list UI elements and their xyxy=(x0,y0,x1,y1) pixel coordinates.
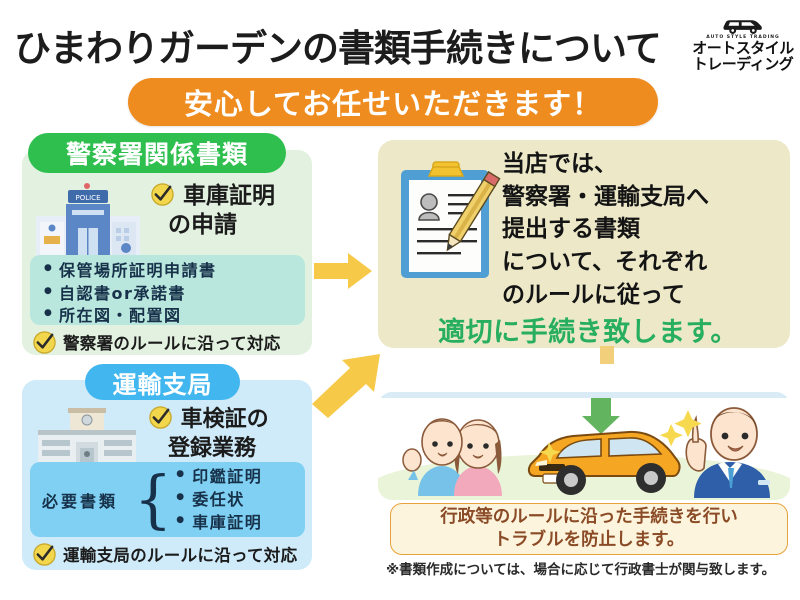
transport-card-badge: 運輸支局 xyxy=(85,364,240,400)
message-line-3: 提出する書類 xyxy=(502,213,792,246)
salesman-pointing-icon xyxy=(672,396,784,498)
message-line-5: のルールに従って xyxy=(502,279,792,312)
list-item: 車庫証明 xyxy=(176,511,262,534)
list-item: 保管場所証明申請書 xyxy=(44,260,305,283)
check-circle-icon xyxy=(150,182,175,207)
police-footer-text: 警察署のルールに沿って対応 xyxy=(63,330,281,354)
check-circle-icon xyxy=(32,542,57,567)
assurance-banner-text: 安心してお任せいただきます！ xyxy=(184,81,602,123)
infographic-root: ひまわりガーデンの書類手続きについて AUTO STYLE TRADING オー… xyxy=(0,0,800,600)
police-station-icon: POLICE xyxy=(32,178,144,260)
transport-card-badge-label: 運輸支局 xyxy=(113,365,213,400)
police-heading-line-1: 車庫証明 xyxy=(183,183,275,209)
logo-line-1: オートスタイル xyxy=(692,40,794,56)
check-circle-icon xyxy=(148,405,173,430)
check-circle-icon xyxy=(32,330,57,355)
company-logo: AUTO STYLE TRADING オートスタイル トレーディング xyxy=(690,14,796,88)
police-card-footer: 警察署のルールに沿って対応 xyxy=(32,330,307,354)
transport-documents-list: 必要書類 { 印鑑証明 委任状 車庫証明 xyxy=(30,462,305,537)
arrow-up-right-icon xyxy=(310,350,385,420)
police-heading-line-2: の申請 xyxy=(168,211,305,240)
callout-line-2: トラブルを防止します。 xyxy=(494,529,685,552)
list-item: 自認書or承諾書 xyxy=(44,283,305,306)
orange-car-icon xyxy=(525,418,685,500)
police-card-badge-label: 警察署関係書類 xyxy=(66,135,248,171)
clipboard-pencil-icon xyxy=(393,158,503,283)
message-line-1: 当店では、 xyxy=(502,148,792,181)
police-card-badge: 警察署関係書類 xyxy=(28,133,286,173)
main-message-highlight: 適切に手続き致します。 xyxy=(388,310,788,349)
transport-heading-line-1: 車検証の xyxy=(181,407,269,432)
happy-couple-icon xyxy=(398,400,520,496)
list-item: 委任状 xyxy=(176,488,262,511)
page-title: ひまわりガーデンの書類手続きについて xyxy=(14,18,704,72)
benefit-callout: 行政等のルールに沿った手続きを行い トラブルを防止します。 xyxy=(390,503,788,555)
transport-footer-text: 運輸支局のルールに沿って対応 xyxy=(63,542,297,566)
message-line-4: について、それぞれ xyxy=(502,246,792,279)
car-icon xyxy=(721,14,765,36)
message-line-2: 警察署・運輸支局へ xyxy=(502,181,792,214)
panel-connector xyxy=(600,346,614,364)
assurance-banner: 安心してお任せいただきます！ xyxy=(128,78,658,126)
transport-card-footer: 運輸支局のルールに沿って対応 xyxy=(32,542,307,566)
arrow-right-icon xyxy=(312,250,374,292)
list-item: 所在図・配置図 xyxy=(44,305,305,328)
required-documents-label: 必要書類 xyxy=(42,488,134,512)
callout-line-1: 行政等のルールに沿った手続きを行い xyxy=(440,506,738,529)
logo-line-2: トレーディング xyxy=(693,56,793,72)
transport-card-heading: 車検証の 登録業務 xyxy=(148,405,308,463)
police-documents-list: 保管場所証明申請書 自認書or承諾書 所在図・配置図 xyxy=(30,255,305,325)
transport-heading-line-2: 登録業務 xyxy=(168,435,308,464)
list-item: 印鑑証明 xyxy=(176,465,262,488)
main-message-text: 当店では、 警察署・運輸支局へ 提出する書類 について、それぞれ のルールに従っ… xyxy=(502,148,792,311)
footnote: ※書類作成については、場合に応じて行政書士が関与致します。 xyxy=(386,558,796,578)
svg-text:POLICE: POLICE xyxy=(75,194,100,202)
police-card-heading: 車庫証明 の申請 xyxy=(150,182,305,241)
